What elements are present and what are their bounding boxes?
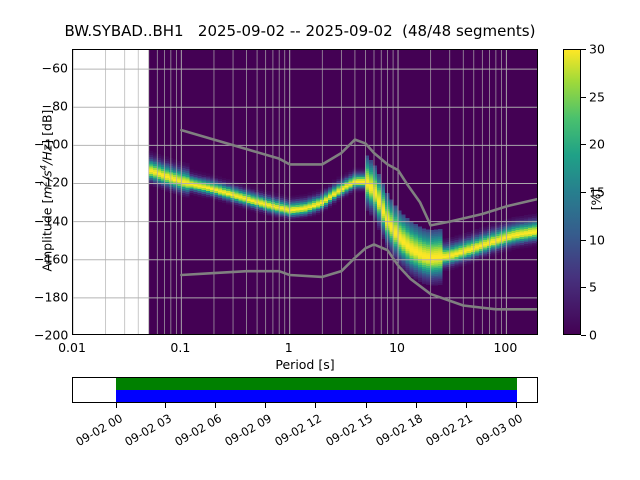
- timeline-tick-label: 09-02 00: [71, 411, 125, 450]
- colorbar-tick: [581, 240, 586, 241]
- colorbar-tick: [581, 192, 586, 193]
- timeline-tick: [366, 403, 367, 408]
- colorbar-tick-label: 25: [589, 89, 605, 104]
- colorbar-tick-label: 30: [589, 42, 605, 57]
- y-axis-title-units: m2/s4/Hz: [40, 145, 55, 199]
- timeline-tick: [416, 403, 417, 408]
- colorbar-tick: [581, 335, 586, 336]
- timeline-ticks: 09-02 0009-02 0309-02 0609-02 0909-02 12…: [72, 403, 538, 473]
- timeline-tick: [466, 403, 467, 408]
- x-tick-label: 0.01: [58, 340, 86, 355]
- timeline-tick-label: 09-02 18: [371, 411, 425, 450]
- colorbar-tick: [581, 49, 586, 50]
- colorbar-tick-label: 0: [589, 328, 597, 343]
- x-tick-label: 100: [493, 340, 517, 355]
- x-tick-label: 1: [285, 340, 293, 355]
- colorbar-title: [%]: [589, 140, 604, 260]
- timeline-tick-label: 09-02 21: [421, 411, 475, 450]
- page-title: BW.SYBAD..BH1 2025-09-02 -- 2025-09-02 (…: [0, 22, 600, 40]
- colorbar-tick-label: 5: [589, 280, 597, 295]
- ppsd-heatmap: [73, 50, 538, 335]
- timeline-tick-label: 09-02 06: [170, 411, 224, 450]
- timeline-tick: [116, 403, 117, 408]
- colorbar-tick: [581, 287, 586, 288]
- coverage-segments-bar: [116, 390, 517, 402]
- timeline-tick: [165, 403, 166, 408]
- timeline-tick-label: 09-02 12: [271, 411, 325, 450]
- timeline-tick-label: 09-02 09: [221, 411, 275, 450]
- y-axis-title-suffix: ] [dB]: [40, 110, 55, 145]
- coverage-timeline: [72, 377, 538, 403]
- x-axis-ticks: 0.010.1110100: [72, 337, 538, 359]
- x-tick-label: 0.1: [170, 340, 190, 355]
- timeline-tick-label: 09-02 15: [321, 411, 375, 450]
- x-axis-title: Period [s]: [72, 357, 538, 372]
- coverage-data-bar: [116, 378, 517, 390]
- timeline-tick-label: 09-02 03: [120, 411, 174, 450]
- x-tick-label: 10: [389, 340, 405, 355]
- timeline-tick: [215, 403, 216, 408]
- timeline-tick: [315, 403, 316, 408]
- timeline-tick: [265, 403, 266, 408]
- colorbar: [563, 49, 581, 335]
- colorbar-tick: [581, 144, 586, 145]
- timeline-tick-label: 09-03 00: [471, 411, 525, 450]
- timeline-tick: [516, 403, 517, 408]
- y-axis-title: Amplitude [m2/s4/Hz] [dB]: [39, 48, 54, 334]
- y-axis-title-prefix: Amplitude [: [40, 199, 55, 272]
- ppsd-plot-area: [72, 49, 538, 335]
- colorbar-tick: [581, 97, 586, 98]
